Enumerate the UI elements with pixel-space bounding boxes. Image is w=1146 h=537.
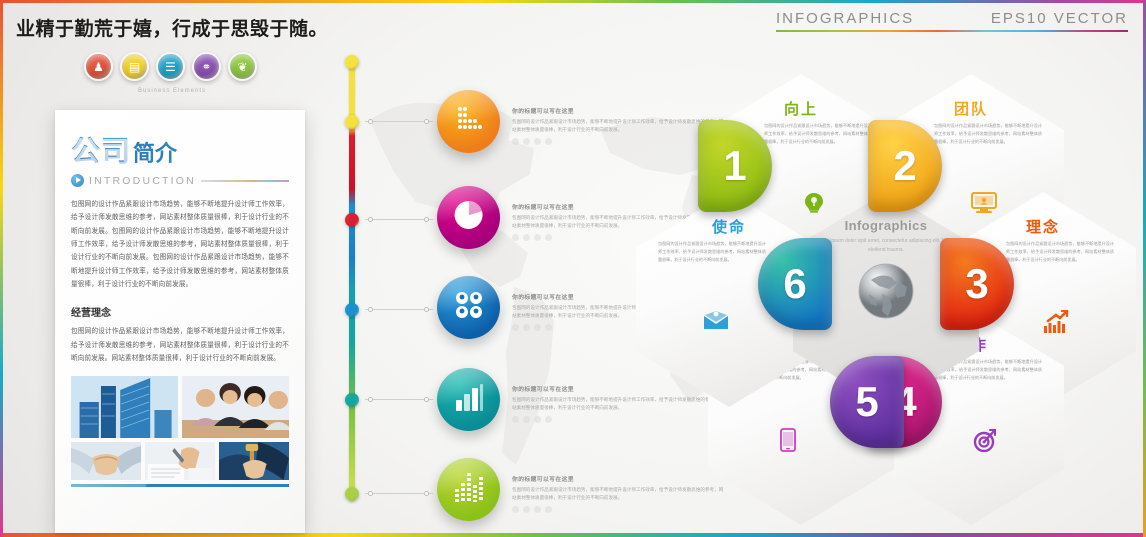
card-section-title: 经营理念 (71, 304, 289, 319)
timeline-circle-3[interactable] (437, 276, 500, 339)
badge-row: ♟▤☰⚭❦ (84, 52, 257, 81)
header-tagline: INFOGRAPHICS EPS10 VECTOR (776, 10, 1128, 32)
people-group-icon (453, 289, 485, 326)
timeline-node (345, 393, 359, 407)
timeline-node (345, 487, 359, 501)
timeline-connector (365, 219, 433, 220)
card-title-main: 公司 (71, 128, 131, 170)
card-paragraph-2: 包图网的设计作品紧跟设计市场趋势，能够不断地提升设计师工作效率，给予设计师发散思… (71, 325, 289, 365)
hexagon-label: 向上 (708, 98, 894, 119)
pie-chart-icon (454, 200, 484, 235)
header-left-tag: INFOGRAPHICS (776, 10, 914, 27)
timeline-connector-dot (424, 307, 429, 312)
photo-documents (145, 442, 215, 480)
top-color-border (0, 0, 1146, 3)
badge-people-icon[interactable]: ♟ (84, 52, 113, 81)
timeline-circle-4[interactable] (437, 368, 500, 431)
header-gradient-rule (776, 30, 1128, 32)
timeline-connector-dot (424, 217, 429, 222)
timeline-connector-dot (368, 307, 373, 312)
photo-business-meeting (182, 376, 289, 438)
timeline-connector (365, 399, 433, 400)
card-subtitle-rule (201, 180, 289, 182)
bar-chart-icon (454, 382, 484, 417)
photo-grid-rule (71, 484, 289, 487)
page-headline: 业精于勤荒于嬉，行成于思毁于随。 (16, 14, 328, 41)
timeline-circle-5[interactable] (437, 458, 500, 521)
badge-leaf-icon[interactable]: ❦ (228, 52, 257, 81)
timeline-connector-dot (424, 119, 429, 124)
hexagon-label: 团队 (878, 98, 1064, 119)
timeline-connector (365, 309, 433, 310)
photo-grid (71, 376, 289, 487)
badge-book-icon[interactable]: ☰ (156, 52, 185, 81)
timeline-circle-2[interactable] (437, 186, 500, 249)
bottom-color-border (0, 533, 1146, 537)
timeline-connector-dot (424, 491, 429, 496)
card-paragraph-1: 包图网的设计作品紧跟设计市场趋势，能够不断地提升设计师工作效率，给予设计师发散思… (71, 198, 289, 291)
timeline-node (345, 115, 359, 129)
badge-caption: Business Elements (138, 88, 206, 94)
card-subtitle-row: INTRODUCTION (71, 174, 289, 187)
card-title-sub: 简介 (133, 136, 177, 168)
company-intro-card: 公司 简介 INTRODUCTION 包图网的设计作品紧跟设计市场趋势，能够不断… (55, 110, 305, 533)
equalizer-icon (453, 471, 485, 508)
hexagon-text: 包图网的设计作品紧跟设计市场趋势，能够不断地提升设计师工作效率，给予设计师发散思… (764, 122, 872, 146)
header-right-tag: EPS10 VECTOR (991, 10, 1128, 27)
timeline-connector-dot (368, 491, 373, 496)
timeline-connector (365, 493, 433, 494)
card-title: 公司 简介 (71, 128, 289, 170)
photo-handshake (71, 442, 141, 480)
timeline-connector-dot (368, 397, 373, 402)
timeline-connector-dot (368, 119, 373, 124)
dot-bar-chart-icon (454, 104, 484, 139)
card-subtitle-en: INTRODUCTION (89, 175, 196, 187)
timeline-connector (365, 121, 433, 122)
infographic-canvas: 业精于勤荒于嬉，行成于思毁于随。 INFOGRAPHICS EPS10 VECT… (0, 0, 1146, 537)
hexagon-text: 包图网的设计作品紧跟设计市场趋势，能够不断地提升设计师工作效率，给予设计师发散思… (934, 122, 1042, 146)
photo-handshake-gavel (219, 442, 289, 480)
hexagon-text: 包图网的设计作品紧跟设计市场趋势，能够不断地提升设计师工作效率，给予设计师发散思… (1006, 240, 1114, 264)
timeline-circle-1[interactable] (437, 90, 500, 153)
timeline-node (345, 213, 359, 227)
hexagon-center-text: Lorem ipsum dolor sipit amet, consectetu… (811, 237, 961, 255)
timeline-connector-dot (368, 217, 373, 222)
timeline-connector-dot (424, 397, 429, 402)
photo-skyscrapers (71, 376, 178, 438)
badge-building-icon[interactable]: ▤ (120, 52, 149, 81)
hexagon-cluster: Infographics Lorem ipsum dolor sipit ame… (636, 74, 1136, 524)
left-color-border (0, 0, 3, 537)
timeline-node (345, 303, 359, 317)
play-icon (71, 174, 84, 187)
badge-link-icon[interactable]: ⚭ (192, 52, 221, 81)
hexagon-text: 包图网的设计作品紧跟设计市场趋势，能够不断地提升设计师工作效率，给予设计师发散思… (658, 240, 766, 264)
timeline-node (345, 55, 359, 69)
